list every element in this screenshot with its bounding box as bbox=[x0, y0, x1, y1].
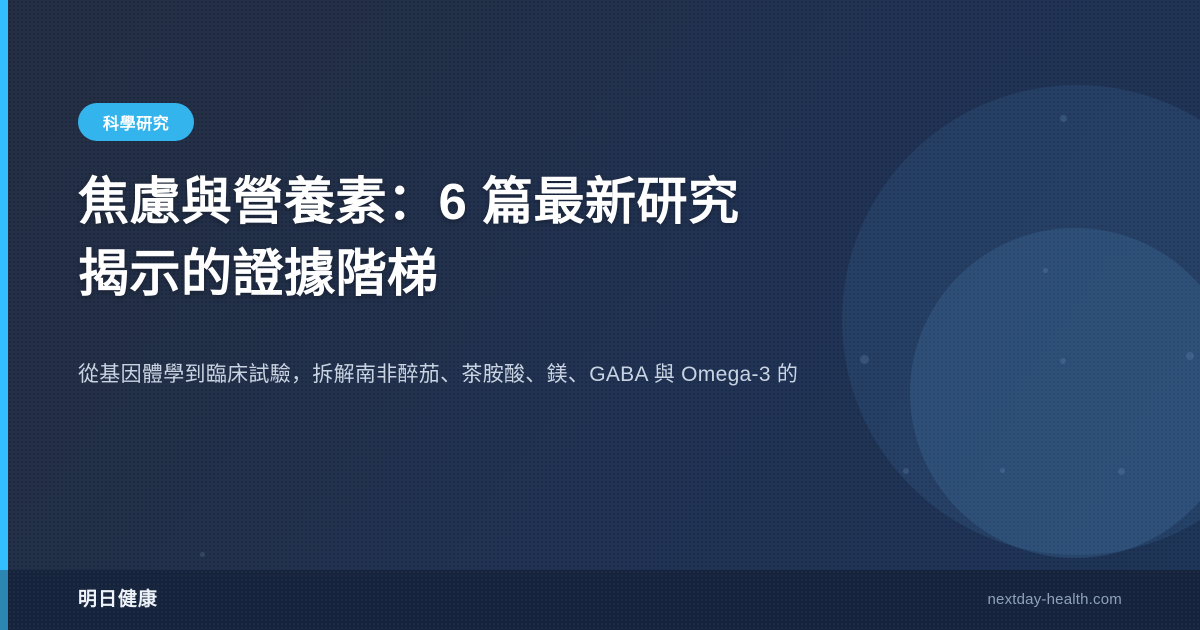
category-badge[interactable]: 科學研究 bbox=[78, 103, 194, 141]
site-brand-name: 明日健康 bbox=[78, 570, 158, 630]
site-url: nextday-health.com bbox=[987, 570, 1122, 630]
page-title-line-2: 揭示的證據階梯 bbox=[78, 238, 1078, 310]
page-subtitle: 從基因體學到臨床試驗，拆解南非醉茄、茶胺酸、鎂、GABA 與 Omega-3 的 bbox=[78, 358, 914, 392]
og-share-card: 科學研究 焦慮與營養素：6 篇最新研究 揭示的證據階梯 從基因體學到臨床試驗，拆… bbox=[0, 0, 1200, 630]
page-title: 焦慮與營養素：6 篇最新研究 揭示的證據階梯 bbox=[78, 166, 1078, 310]
left-accent-bar-footer bbox=[0, 570, 8, 630]
card-content: 科學研究 焦慮與營養素：6 篇最新研究 揭示的證據階梯 從基因體學到臨床試驗，拆… bbox=[78, 0, 1200, 570]
page-title-line-1: 焦慮與營養素：6 篇最新研究 bbox=[78, 166, 1078, 238]
left-accent-bar bbox=[0, 0, 8, 570]
card-footer: 明日健康 nextday-health.com bbox=[0, 570, 1200, 630]
